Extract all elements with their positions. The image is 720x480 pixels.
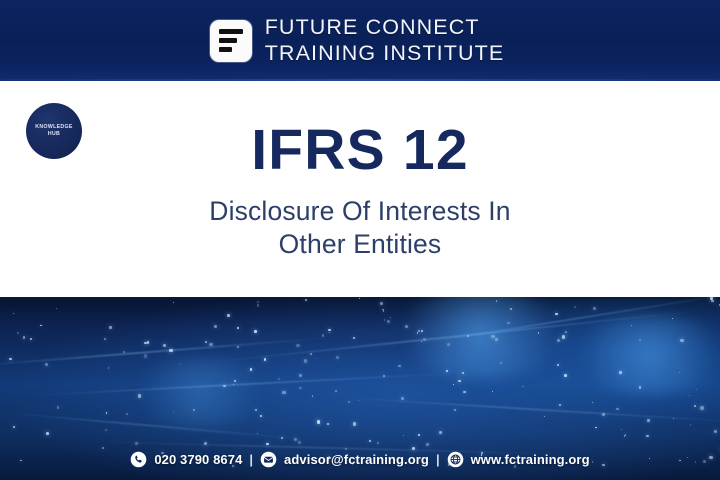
particle-dot	[369, 440, 371, 442]
particle-dot	[56, 308, 57, 309]
particle-dot	[595, 427, 596, 428]
particle-dot	[281, 437, 283, 439]
header-band: FUTURE CONNECT TRAINING INSTITUTE	[0, 0, 720, 81]
particle-dot	[673, 418, 674, 419]
particle-dot	[421, 330, 423, 332]
particle-dot	[30, 338, 33, 341]
particle-dot	[336, 356, 339, 359]
particle-dot	[13, 313, 14, 314]
particle-dot	[257, 304, 260, 307]
particle-dot	[144, 342, 147, 345]
particle-dot	[624, 435, 625, 436]
particle-dot	[315, 358, 317, 360]
particle-dot	[312, 396, 314, 398]
particle-dot	[237, 327, 239, 329]
particle-dot	[593, 307, 596, 310]
logo-bar-bottom	[219, 47, 232, 52]
contact-email[interactable]: advisor@fctraining.org	[260, 451, 429, 468]
particle-dot	[46, 432, 49, 435]
particle-dot	[380, 302, 383, 305]
particle-dot	[557, 339, 560, 342]
particle-dot	[690, 424, 691, 425]
particle-dot	[104, 338, 106, 340]
particle-dot	[574, 306, 576, 308]
particle-dot	[680, 339, 683, 342]
particle-dot	[327, 423, 329, 425]
email-address: advisor@fctraining.org	[284, 452, 429, 467]
particle-dot	[454, 409, 456, 411]
envelope-icon	[260, 451, 277, 468]
background-glow	[380, 297, 580, 379]
headline-block: IFRS 12 Disclosure Of Interests In Other…	[0, 81, 720, 297]
particle-dot	[57, 406, 59, 408]
particle-dot	[696, 389, 697, 390]
particle-dot	[264, 358, 267, 361]
particle-dot	[296, 344, 299, 347]
particle-dot	[387, 320, 390, 323]
particle-dot	[214, 325, 217, 328]
particle-dot	[353, 422, 356, 425]
particle-dot	[491, 335, 494, 338]
particle-dot	[398, 365, 401, 368]
particle-dot	[109, 326, 111, 328]
contact-separator-2: |	[436, 452, 440, 467]
particle-dot	[9, 358, 11, 360]
brand-text: FUTURE CONNECT TRAINING INSTITUTE	[265, 17, 505, 64]
phone-number: 020 3790 8674	[154, 452, 242, 467]
particle-dot	[45, 363, 48, 366]
page-subtitle: Disclosure Of Interests In Other Entitie…	[209, 195, 510, 260]
contact-separator-1: |	[249, 452, 253, 467]
particle-dot	[403, 435, 404, 436]
particle-dot	[205, 341, 207, 343]
particle-dot	[255, 409, 257, 411]
brand-name-line2: TRAINING INSTITUTE	[265, 43, 505, 65]
particle-dot	[322, 334, 324, 336]
particle-dot	[260, 415, 262, 417]
particle-dot	[507, 322, 509, 324]
particle-dot	[359, 298, 360, 299]
brand-name-line1: FUTURE CONNECT	[265, 17, 505, 39]
particle-dot	[282, 391, 285, 394]
particle-dot	[510, 308, 511, 309]
particle-dot	[458, 380, 461, 383]
particle-dot	[453, 384, 454, 385]
website-url: www.fctraining.org	[471, 452, 590, 467]
subtitle-line2: Other Entities	[209, 228, 510, 260]
particle-dot	[254, 330, 257, 333]
particle-dot	[299, 374, 302, 377]
phone-icon	[130, 451, 147, 468]
globe-icon	[447, 451, 464, 468]
particle-dot	[562, 335, 565, 338]
background-glow	[560, 315, 720, 395]
particle-dot	[555, 313, 558, 316]
subtitle-line1: Disclosure Of Interests In	[209, 196, 510, 226]
particle-dot	[173, 302, 174, 303]
particle-dot	[204, 442, 207, 445]
particle-dot	[405, 325, 408, 328]
particle-dot	[602, 413, 605, 416]
particle-dot	[426, 443, 429, 446]
particle-dot	[135, 442, 138, 445]
background-glow	[120, 357, 280, 427]
particle-dot	[714, 430, 717, 433]
particle-dot	[383, 375, 385, 377]
particle-dot	[223, 385, 225, 387]
stacked-bars-logo-icon	[210, 20, 252, 62]
particle-dot	[694, 405, 696, 407]
particle-dot	[564, 374, 567, 377]
particle-dot	[353, 337, 356, 340]
particle-dot	[310, 353, 312, 355]
contact-website[interactable]: www.fctraining.org	[447, 451, 590, 468]
particle-dot	[335, 390, 337, 392]
particle-dot	[299, 387, 302, 390]
particle-dot	[418, 330, 420, 332]
particle-dot	[377, 442, 379, 444]
particle-dot	[227, 314, 230, 317]
particle-dot	[418, 434, 420, 436]
particle-dot	[147, 341, 149, 343]
particle-dot	[619, 371, 622, 374]
particle-dot	[492, 391, 493, 392]
particle-dot	[382, 309, 384, 311]
particle-dot	[305, 299, 307, 301]
particle-dot	[102, 447, 104, 449]
particle-dot	[463, 391, 466, 394]
particle-dot	[383, 310, 384, 311]
contact-strip: 020 3790 8674 | advisor@fctraining.org |	[0, 451, 720, 468]
particle-dot	[278, 378, 280, 380]
particle-dot	[108, 367, 109, 368]
particle-dot	[647, 419, 650, 422]
particle-dot	[169, 349, 172, 352]
particle-dot	[234, 380, 236, 382]
particle-dot	[495, 338, 498, 341]
particle-dot	[126, 413, 128, 415]
particle-dot	[304, 359, 307, 362]
particle-dot	[423, 338, 426, 341]
page-title: IFRS 12	[251, 122, 468, 179]
particle-dot	[144, 354, 147, 357]
particle-dot	[639, 339, 641, 341]
particle-dot	[544, 416, 545, 417]
particle-dot	[328, 329, 330, 331]
particle-dot	[358, 400, 360, 402]
logo-bar-top	[219, 29, 243, 34]
particle-dot	[559, 404, 561, 406]
particle-dot	[631, 325, 632, 326]
particle-dot	[23, 336, 26, 339]
particle-dot	[439, 431, 442, 434]
particle-dot	[329, 332, 330, 333]
particle-dot	[711, 300, 713, 302]
particle-dot	[646, 435, 649, 438]
logo-bar-middle	[219, 38, 237, 43]
particle-dot	[447, 343, 450, 346]
particle-dot	[237, 346, 240, 349]
particle-dot	[462, 372, 464, 374]
particle-dot	[639, 386, 641, 388]
particle-dot	[621, 429, 622, 430]
particle-dot	[209, 343, 212, 346]
particle-dot	[689, 395, 691, 397]
particle-dot	[106, 412, 107, 413]
particle-dot	[40, 325, 41, 326]
particle-dot	[557, 364, 559, 366]
particle-dot	[522, 386, 524, 388]
particle-dot	[294, 438, 297, 441]
particle-dot	[298, 441, 301, 444]
particle-dot	[446, 370, 447, 371]
particle-dot	[163, 344, 166, 347]
particle-dot	[312, 395, 313, 396]
particle-dot	[616, 408, 619, 411]
particle-dot	[710, 297, 712, 299]
particle-dot	[317, 420, 320, 423]
particle-dot	[266, 443, 269, 446]
particle-dot	[345, 448, 347, 450]
particle-dot	[348, 401, 350, 403]
particle-dot	[417, 332, 418, 333]
particle-dot	[700, 406, 703, 409]
white-content-panel: KNOWLEDGE HUB IFRS 12 Disclosure Of Inte…	[0, 81, 720, 297]
particle-dot	[592, 402, 593, 403]
particle-dot	[173, 411, 174, 412]
light-streak	[330, 396, 720, 424]
contact-phone[interactable]: 020 3790 8674	[130, 451, 242, 468]
particle-dot	[13, 426, 15, 428]
particle-dot	[138, 394, 141, 397]
particle-dot	[17, 332, 19, 334]
promo-banner: FUTURE CONNECT TRAINING INSTITUTE KNOWLE…	[0, 0, 720, 480]
particle-dot	[105, 429, 107, 431]
brand-lockup: FUTURE CONNECT TRAINING INSTITUTE	[210, 17, 505, 64]
